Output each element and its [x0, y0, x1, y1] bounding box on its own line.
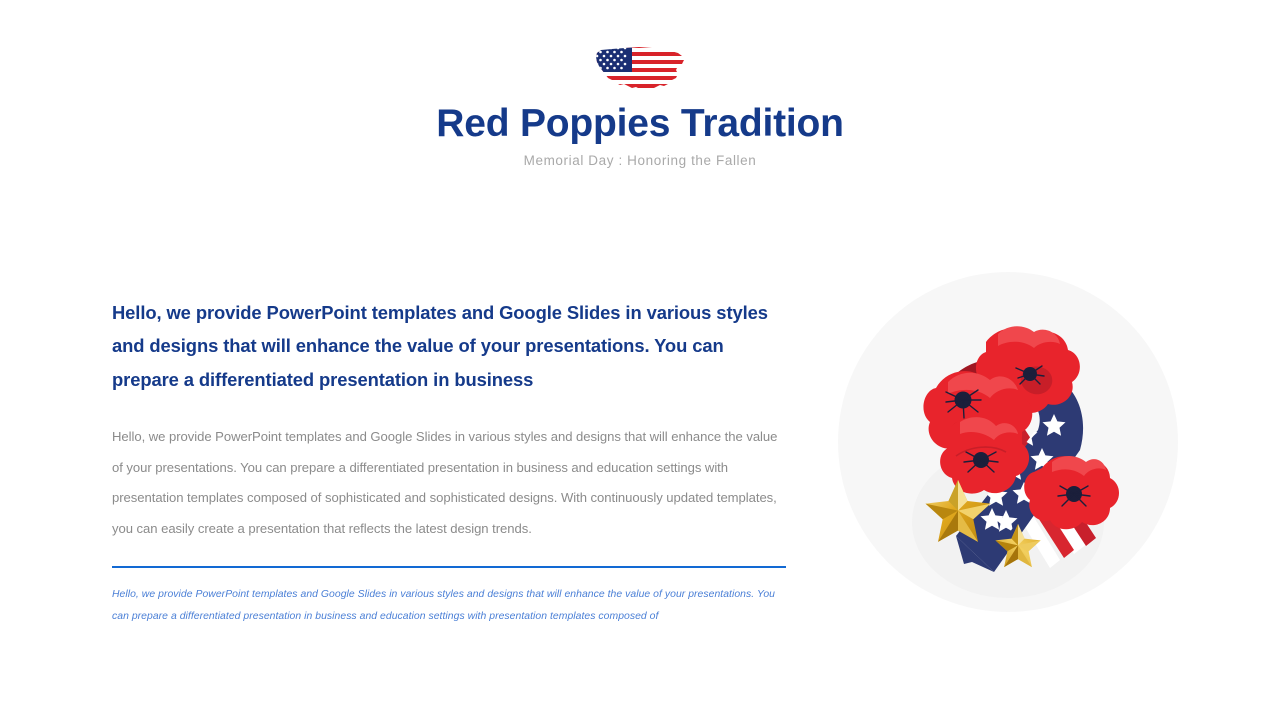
page-title: Red Poppies Tradition: [0, 102, 1280, 147]
slide-header: Red Poppies Tradition Memorial Day : Hon…: [0, 44, 1280, 168]
illustration-container: [838, 272, 1178, 612]
divider-line: [112, 566, 786, 568]
usa-flag-map-icon: [592, 44, 688, 96]
content-column: Hello, we provide PowerPoint templates a…: [112, 296, 788, 629]
body-paragraph: Hello, we provide PowerPoint templates a…: [112, 422, 788, 544]
note-paragraph: Hello, we provide PowerPoint templates a…: [112, 584, 784, 629]
patriotic-poppy-ribbon-illustration: [838, 272, 1178, 612]
lead-paragraph: Hello, we provide PowerPoint templates a…: [112, 296, 788, 396]
page-subtitle: Memorial Day : Honoring the Fallen: [0, 153, 1280, 168]
slide-canvas: Red Poppies Tradition Memorial Day : Hon…: [0, 0, 1280, 720]
